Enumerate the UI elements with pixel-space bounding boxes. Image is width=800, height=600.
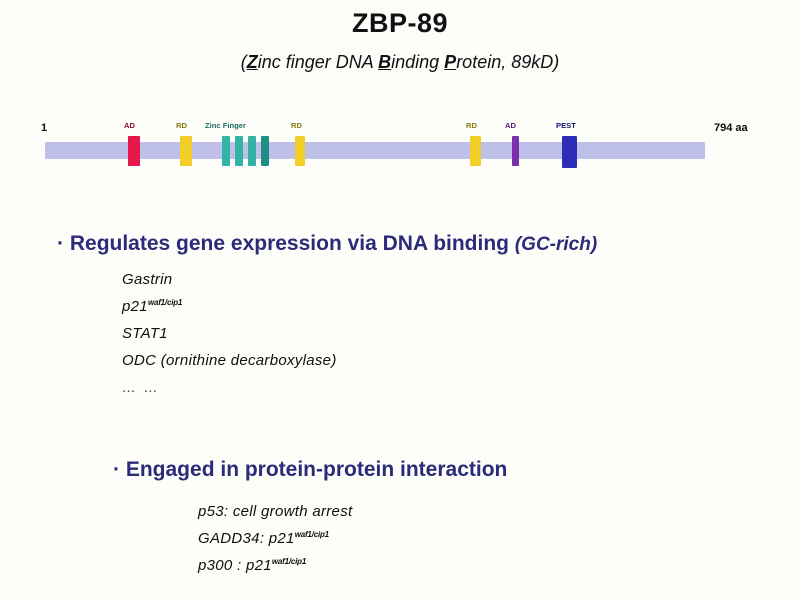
interaction-partner-item-text: GADD34: p21 [198, 530, 295, 547]
n-terminus-label: 1 [41, 122, 47, 134]
interaction-partner-item: p300 : p21waf1/cip1 [198, 557, 618, 574]
bullet-text-2: Engaged in protein-protein interaction [126, 458, 508, 481]
bullet-marker-2: · [113, 458, 120, 481]
bullet-regulates-gene-expression: · Regulates gene expression via DNA bind… [57, 232, 597, 256]
subtitle-b-underline: B [378, 52, 391, 72]
bullet-text-1: Regulates gene expression via DNA bindin… [70, 232, 509, 255]
bullet-suffix-1: (GC-rich) [515, 234, 597, 255]
domain-feature-znf1 [222, 136, 230, 166]
dna-target-item-text: p21 [122, 298, 148, 315]
page-subtitle: (Zinc finger DNA Binding Protein, 89kD) [0, 52, 800, 73]
interaction-partner-list: p53: cell growth arrestGADD34: p21waf1/c… [198, 503, 618, 584]
protein-domain-diagram: 1 794 aa ADRDRDRDADPEST Zinc Finger [0, 110, 800, 170]
domain-label-ad: AD [124, 121, 135, 130]
dna-target-item: STAT1 [122, 325, 542, 342]
dna-target-item-text: STAT1 [122, 325, 168, 342]
domain-feature-ad2 [512, 136, 519, 166]
zinc-finger-label: Zinc Finger [205, 121, 246, 130]
interaction-partner-item-text: p53: cell growth arrest [198, 503, 352, 520]
dna-target-item: Gastrin [122, 271, 542, 288]
domain-feature-znf2 [235, 136, 243, 166]
domain-feature-rd [180, 136, 192, 166]
bullet-protein-protein-interaction: · Engaged in protein-protein interaction [113, 458, 507, 482]
subtitle-p-underline: P [444, 52, 456, 72]
subtitle-mid-3: rotein, 89kD) [456, 52, 559, 72]
subtitle-mid-2: inding [391, 52, 444, 72]
domain-feature-rd2 [295, 136, 305, 166]
interaction-partner-item-text: p300 : p21 [198, 557, 272, 574]
dna-target-item-text: ODC (ornithine decarboxylase) [122, 352, 337, 369]
dna-target-item: ODC (ornithine decarboxylase) [122, 352, 542, 369]
domain-feature-znf4 [261, 136, 269, 166]
interaction-partner-item-superscript: waf1/cip1 [295, 530, 329, 539]
domain-label-rd3: RD [466, 121, 477, 130]
dna-target-item-superscript: waf1/cip1 [148, 298, 182, 307]
dna-target-more-indicator: … … [122, 379, 542, 395]
interaction-partner-item-superscript: waf1/cip1 [272, 557, 306, 566]
subtitle-z-underline: Z [247, 52, 258, 72]
dna-target-list: Gastrinp21waf1/cip1STAT1ODC (ornithine d… [122, 271, 542, 405]
c-terminus-label: 794 aa [714, 122, 748, 134]
dna-target-item-text: Gastrin [122, 271, 172, 288]
subtitle-mid-1: inc finger DNA [258, 52, 378, 72]
domain-feature-znf3 [248, 136, 256, 166]
domain-label-rd2: RD [291, 121, 302, 130]
domain-feature-pest [562, 136, 577, 168]
domain-label-pest: PEST [556, 121, 576, 130]
interaction-partner-item: GADD34: p21waf1/cip1 [198, 530, 618, 547]
domain-label-ad2: AD [505, 121, 516, 130]
protein-backbone-bar [45, 142, 705, 159]
slide-canvas: ZBP-89 (Zinc finger DNA Binding Protein,… [0, 0, 800, 600]
domain-feature-ad [128, 136, 140, 166]
bullet-marker-1: · [57, 232, 64, 255]
interaction-partner-item: p53: cell growth arrest [198, 503, 618, 520]
page-title: ZBP-89 [0, 8, 800, 39]
domain-feature-rd3 [470, 136, 481, 166]
domain-label-rd: RD [176, 121, 187, 130]
dna-target-item: p21waf1/cip1 [122, 298, 542, 315]
